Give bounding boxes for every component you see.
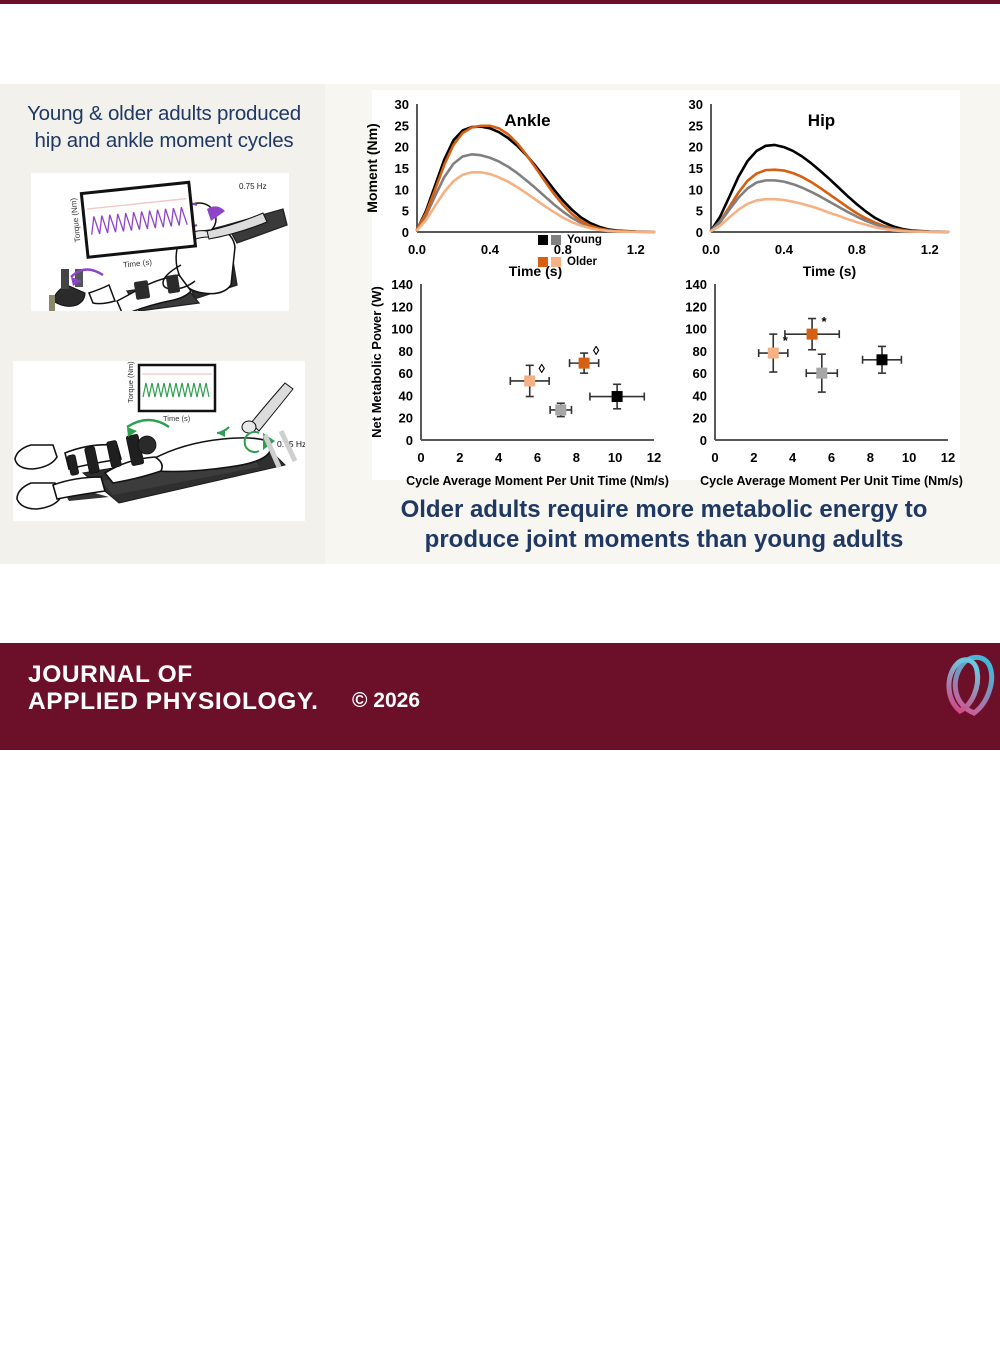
chart-hip-metabolic: 020406080100120140024681012Cycle Average… bbox=[685, 277, 963, 488]
hip-setup-illustration: 0.75 Hz Torque (Nm) Time (s) bbox=[13, 361, 305, 521]
y-tick-label: 10 bbox=[395, 182, 409, 197]
caption-line-1: Older adults require more metabolic ener… bbox=[330, 495, 998, 525]
y-tick-label: 140 bbox=[685, 277, 707, 292]
chart-hip-moment: 0510152025300.00.40.81.2HipTime (s) bbox=[689, 97, 948, 279]
x-tick-label: 6 bbox=[534, 450, 541, 465]
y-tick-label: 20 bbox=[395, 140, 409, 155]
y-tick-label: 0 bbox=[700, 433, 707, 448]
y-tick-label: 80 bbox=[693, 344, 707, 359]
y-tick-label: 15 bbox=[395, 161, 409, 176]
scatter-marker bbox=[807, 329, 818, 340]
x-tick-label: 1.2 bbox=[627, 242, 645, 257]
y-tick-label: 0 bbox=[402, 225, 409, 240]
copyright-text: © 2026 bbox=[352, 689, 420, 713]
legend-swatch-older-light bbox=[551, 257, 561, 267]
y-axis-title: Moment (Nm) bbox=[364, 123, 380, 212]
chart-ankle-metabolic: 020406080100120140024681012Cycle Average… bbox=[369, 277, 669, 488]
journal-title: JOURNAL OF APPLIED PHYSIOLOGY. bbox=[28, 661, 318, 716]
x-tick-label: 12 bbox=[647, 450, 661, 465]
plot-title: Ankle bbox=[504, 111, 550, 130]
y-tick-label: 25 bbox=[395, 118, 409, 133]
y-tick-label: 60 bbox=[693, 366, 707, 381]
aps-line-2: physiological bbox=[884, 1340, 961, 1356]
scatter-marker bbox=[555, 404, 566, 415]
x-tick-label: 0.0 bbox=[408, 242, 426, 257]
y-tick-label: 10 bbox=[689, 182, 703, 197]
x-tick-label: 8 bbox=[573, 450, 580, 465]
hip-setup-drawing: 0.75 Hz Torque (Nm) Time (s) bbox=[13, 361, 305, 521]
journal-title-line-2: APPLIED PHYSIOLOGY. bbox=[28, 688, 318, 715]
y-tick-label: 40 bbox=[693, 388, 707, 403]
y-tick-label: 80 bbox=[399, 344, 413, 359]
ankle-setup-illustration: Torque (Nm) Time (s) 0.75 Hz bbox=[31, 173, 289, 311]
y-axis-title: Net Metabolic Power (W) bbox=[369, 286, 384, 438]
legend-swatch-older-dark bbox=[538, 257, 548, 267]
legend-swatch-young-dark bbox=[538, 235, 548, 245]
aps-logo-text: american physiological society˙ bbox=[884, 1324, 961, 1372]
top-accent-bar bbox=[0, 0, 1000, 4]
x-tick-label: 2 bbox=[456, 450, 463, 465]
y-tick-label: 15 bbox=[689, 161, 703, 176]
ankle-setup-drawing: Torque (Nm) Time (s) 0.75 Hz bbox=[31, 173, 289, 311]
scatter-marker bbox=[579, 358, 590, 369]
x-axis-title: Cycle Average Moment Per Unit Time (Nm/s… bbox=[700, 474, 963, 488]
mini-y-label: Torque (Nm) bbox=[126, 361, 135, 403]
y-tick-label: 25 bbox=[689, 118, 703, 133]
figure-caption: Older adults require more metabolic ener… bbox=[330, 495, 998, 555]
plot-title: Hip bbox=[808, 111, 835, 130]
footer-bar: JOURNAL OF APPLIED PHYSIOLOGY. © 2026 am… bbox=[0, 643, 1000, 750]
series-line bbox=[711, 180, 948, 232]
legend-swatch-young-light bbox=[551, 235, 561, 245]
scatter-marker bbox=[612, 391, 623, 402]
scatter-point bbox=[863, 346, 902, 373]
x-tick-label: 1.2 bbox=[921, 242, 939, 257]
caption-line-2: produce joint moments than young adults bbox=[330, 525, 998, 555]
y-tick-label: 20 bbox=[399, 411, 413, 426]
x-tick-label: 0.8 bbox=[848, 242, 866, 257]
scatter-point bbox=[785, 319, 839, 350]
heading-line-2: hip and ankle moment cycles bbox=[8, 127, 320, 154]
significance-annotation: * bbox=[783, 333, 789, 348]
x-tick-label: 0.4 bbox=[775, 242, 794, 257]
aps-line-3: society˙ bbox=[884, 1356, 961, 1372]
scatter-marker bbox=[876, 354, 887, 365]
x-tick-label: 10 bbox=[608, 450, 622, 465]
ankle-frequency-label: 0.75 Hz bbox=[239, 182, 267, 191]
x-tick-label: 0.0 bbox=[702, 242, 720, 257]
mini-x-label: Time (s) bbox=[163, 414, 191, 423]
significance-annotation: ◊ bbox=[539, 361, 546, 376]
x-tick-label: 0 bbox=[711, 450, 718, 465]
legend-entry-older: Older bbox=[538, 256, 597, 268]
x-tick-label: 0 bbox=[417, 450, 424, 465]
x-tick-label: 4 bbox=[495, 450, 503, 465]
series-line bbox=[417, 127, 654, 232]
y-tick-label: 30 bbox=[395, 97, 409, 112]
scatter-point bbox=[550, 403, 571, 416]
scatter-marker bbox=[768, 348, 779, 359]
heading-line-1: Young & older adults produced bbox=[8, 100, 320, 127]
x-axis-title: Cycle Average Moment Per Unit Time (Nm/s… bbox=[406, 474, 669, 488]
legend-label-older: Older bbox=[567, 256, 597, 268]
x-tick-label: 6 bbox=[828, 450, 835, 465]
chart-ankle-moment: 0510152025300.00.40.81.2AnkleTime (s)Mom… bbox=[364, 97, 654, 279]
journal-title-line-1: JOURNAL OF bbox=[28, 661, 318, 688]
y-tick-label: 60 bbox=[399, 366, 413, 381]
series-line bbox=[711, 199, 948, 232]
y-tick-label: 120 bbox=[685, 299, 707, 314]
y-tick-label: 20 bbox=[693, 411, 707, 426]
y-tick-label: 5 bbox=[696, 204, 703, 219]
x-axis-title: Time (s) bbox=[803, 263, 856, 279]
y-tick-label: 100 bbox=[391, 322, 413, 337]
series-line bbox=[417, 172, 654, 232]
significance-annotation: * bbox=[822, 314, 828, 329]
aps-line-1: american bbox=[884, 1324, 961, 1340]
figure-panel: 0510152025300.00.40.81.2AnkleTime (s)Mom… bbox=[325, 84, 1000, 564]
y-tick-label: 20 bbox=[689, 140, 703, 155]
charts-svg: 0510152025300.00.40.81.2AnkleTime (s)Mom… bbox=[325, 84, 1000, 564]
legend-label-young: Young bbox=[567, 234, 602, 246]
y-tick-label: 0 bbox=[696, 225, 703, 240]
legend-entry-young: Young bbox=[538, 234, 602, 246]
y-tick-label: 100 bbox=[685, 322, 707, 337]
x-tick-label: 8 bbox=[867, 450, 874, 465]
x-tick-label: 2 bbox=[750, 450, 757, 465]
y-tick-label: 140 bbox=[391, 277, 413, 292]
left-panel: Young & older adults produced hip and an… bbox=[0, 84, 325, 564]
left-panel-heading: Young & older adults produced hip and an… bbox=[8, 100, 320, 154]
scatter-marker bbox=[524, 375, 535, 386]
x-tick-label: 12 bbox=[941, 450, 955, 465]
y-tick-label: 0 bbox=[406, 433, 413, 448]
y-tick-label: 30 bbox=[689, 97, 703, 112]
scatter-point bbox=[806, 354, 837, 392]
aps-logo-icon bbox=[930, 651, 1000, 723]
y-tick-label: 5 bbox=[402, 204, 409, 219]
scatter-point bbox=[590, 384, 644, 409]
x-tick-label: 4 bbox=[789, 450, 797, 465]
x-tick-label: 0.4 bbox=[481, 242, 500, 257]
y-tick-label: 40 bbox=[399, 388, 413, 403]
x-tick-label: 10 bbox=[902, 450, 916, 465]
significance-annotation: ◊ bbox=[593, 343, 600, 358]
y-tick-label: 120 bbox=[391, 299, 413, 314]
scatter-marker bbox=[816, 368, 827, 379]
